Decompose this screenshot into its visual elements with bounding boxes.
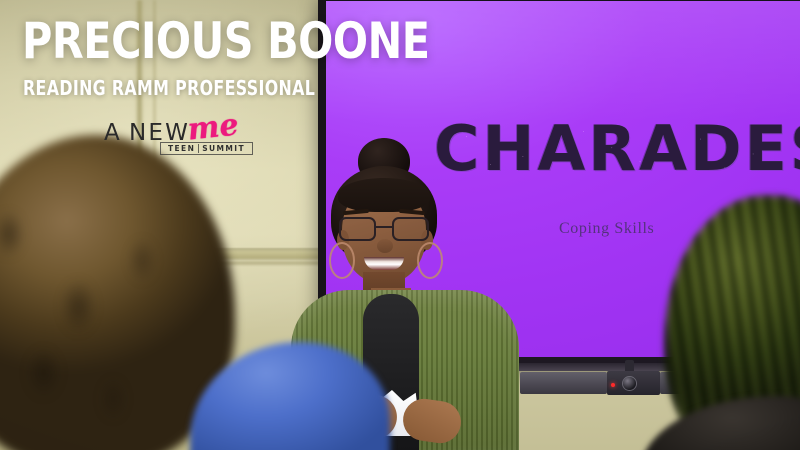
speaker-name: PRECIOUS BOONE <box>22 16 430 66</box>
logo-badge-summit: SUMMIT <box>199 145 248 153</box>
speaker-role: READING RAMM PROFESSIONAL <box>23 76 315 100</box>
title-overlay: PRECIOUS BOONE READING RAMM PROFESSIONAL… <box>0 0 800 450</box>
event-logo: A NEW me TEEN SUMMIT <box>104 116 234 160</box>
logo-badge: TEEN SUMMIT <box>160 142 253 155</box>
video-frame: CHARADES Coping Skills <box>0 0 800 450</box>
logo-word-me: me <box>186 110 240 145</box>
logo-word-a: A <box>104 122 122 145</box>
logo-badge-teen: TEEN <box>165 145 198 153</box>
